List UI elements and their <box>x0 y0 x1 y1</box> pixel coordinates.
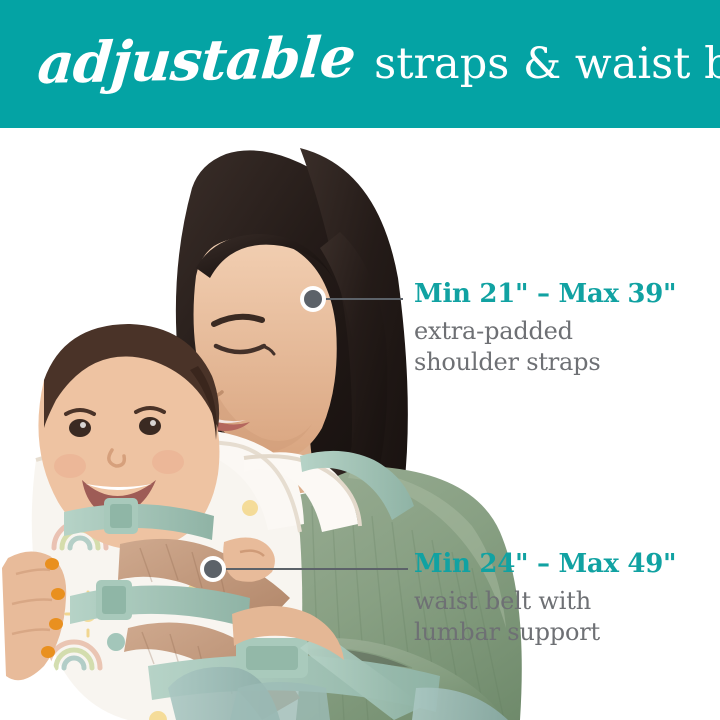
callout-title-shoulder-straps: Min 21" – Max 39" <box>414 281 676 308</box>
callout-text-waist-belt: Min 24" – Max 49" waist belt with lumbar… <box>414 551 676 648</box>
leader-dot-shoulder-straps <box>300 286 326 312</box>
header-rest-text: straps & waist belt <box>374 43 720 86</box>
leader-dot-core-icon <box>204 560 222 578</box>
header-script-word: adjustable <box>36 29 362 92</box>
leader-dot-core-icon <box>304 290 322 308</box>
callout-sub-line-2: lumbar support <box>414 617 676 648</box>
callout-sub-shoulder-straps: extra-padded shoulder straps <box>414 316 676 377</box>
callout-sub-waist-belt: waist belt with lumbar support <box>414 586 676 647</box>
infographic-root: adjustable straps & waist belt <box>0 0 720 720</box>
callout-title-waist-belt: Min 24" – Max 49" <box>414 551 676 578</box>
callout-text-shoulder-straps: Min 21" – Max 39" extra-padded shoulder … <box>414 281 676 378</box>
callout-sub-line-1: waist belt with <box>414 586 676 617</box>
header-banner: adjustable straps & waist belt <box>0 0 720 128</box>
callout-sub-line-2: shoulder straps <box>414 347 676 378</box>
leader-line-shoulder-straps <box>313 298 403 300</box>
leader-dot-waist-belt <box>200 556 226 582</box>
leader-line-waist-belt <box>213 568 408 570</box>
callout-sub-line-1: extra-padded <box>414 316 676 347</box>
